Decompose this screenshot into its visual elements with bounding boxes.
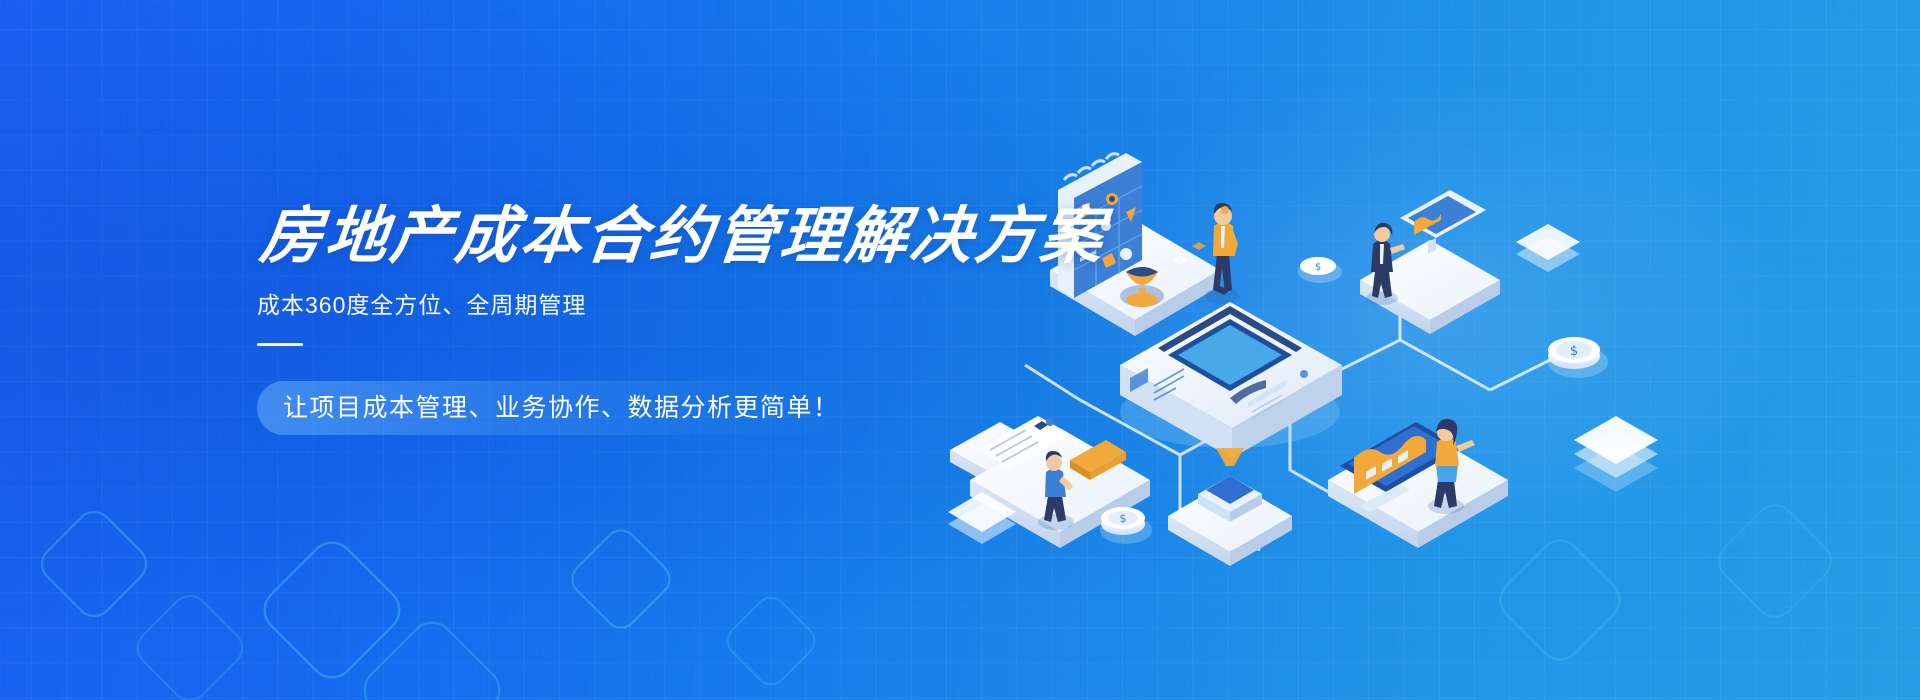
upper-right-platform bbox=[1360, 190, 1500, 334]
coin-stack-top: $ bbox=[1298, 257, 1342, 283]
tagline-pill: 让项目成本管理、业务协作、数据分析更简单！ bbox=[257, 381, 866, 435]
presentation-board bbox=[1400, 190, 1486, 254]
cube-pedestal-center bbox=[1168, 476, 1292, 566]
coin-stack-right: $ bbox=[1548, 337, 1608, 378]
paper-stack-topright bbox=[1516, 224, 1580, 272]
tagline-text: 让项目成本管理、业务协作、数据分析更简单！ bbox=[283, 394, 840, 422]
svg-text:$: $ bbox=[1570, 344, 1578, 359]
hero-banner: $ $ $ bbox=[0, 0, 1920, 700]
page-title: 房地产成本合约管理解决方案 bbox=[257, 205, 1084, 269]
paper-stack-right bbox=[1574, 416, 1658, 492]
tagline-pill-wrap: 让项目成本管理、业务协作、数据分析更简单！ bbox=[257, 381, 866, 435]
page-subtitle: 成本360度全方位、全周期管理 bbox=[257, 291, 1077, 321]
chart-monitor-platform bbox=[1328, 419, 1508, 548]
copy-block: 房地产成本合约管理解决方案 成本360度全方位、全周期管理 bbox=[257, 205, 1077, 346]
coin-stack-left: $ bbox=[1100, 507, 1152, 544]
svg-text:$: $ bbox=[1120, 512, 1127, 525]
title-divider bbox=[257, 343, 303, 346]
svg-text:$: $ bbox=[1315, 262, 1321, 273]
